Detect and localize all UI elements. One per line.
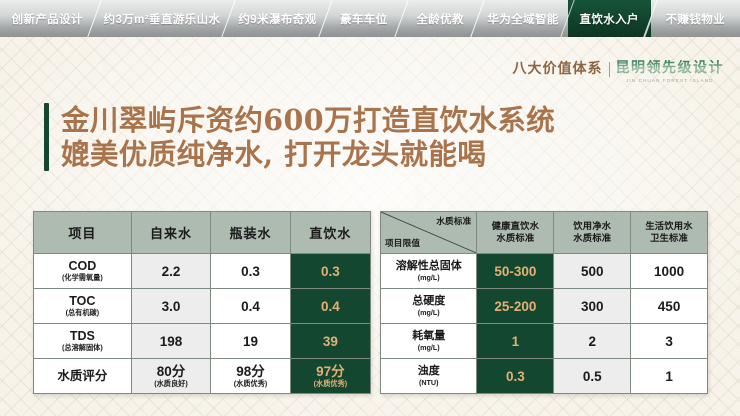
brand-value-system: 八大价值体系 昆明领先级设计 JIN CHUAN FOREST ISLAND — [513, 60, 725, 83]
cell-value: 300 — [581, 299, 604, 314]
nav-item-label: 约3万m²垂直游乐山水 — [104, 11, 221, 27]
cell-value: 1 — [665, 369, 673, 384]
row-label-unit: (mg/L) — [381, 274, 476, 282]
cell-subtext: (水质优秀) — [211, 380, 290, 388]
column-header-line-1: 饮用净水 — [554, 221, 630, 233]
table-row: TOC(总有机碳)3.00.40.4 — [34, 289, 371, 324]
row-label-sub: (化学需氧量) — [34, 274, 131, 282]
column-header-line-2: 水质标准 — [477, 233, 553, 245]
cell-value: 0.5 — [583, 369, 602, 384]
row-label: TDS(总溶解固体) — [34, 324, 132, 359]
cell-value: 198 — [160, 334, 183, 349]
cell-bottled-water: 0.4 — [211, 289, 291, 324]
nav-item-label: 豪车车位 — [340, 11, 388, 27]
cell-value: 500 — [581, 264, 604, 279]
table-row: 水质评分80分(水质良好)98分(水质优秀)97分(水质优秀) — [34, 359, 371, 394]
row-label: 溶解性总固体(mg/L) — [381, 254, 477, 289]
nav-item-label: 不赚钱物业 — [666, 11, 726, 27]
column-header-line-2: 水质标准 — [554, 233, 630, 245]
cell-value: 80分 — [157, 364, 186, 379]
column-header-line-2: 卫生标准 — [631, 233, 707, 245]
table-row: 溶解性总固体(mg/L)50-3005001000 — [381, 254, 708, 289]
column-header-4: 直饮水 — [290, 212, 370, 254]
nav-item-3[interactable]: 约9米瀑布奇观 — [229, 0, 325, 37]
brand-right-english: JIN CHUAN FOREST ISLAND — [626, 78, 714, 83]
row-label: 水质评分 — [34, 359, 132, 394]
column-header-3: 瓶装水 — [211, 212, 291, 254]
cell-domestic-water-standard: 1000 — [631, 254, 708, 289]
row-label-sub: (总有机碳) — [34, 309, 131, 317]
cell-value: 0.3 — [506, 369, 525, 384]
cell-purified-water-standard: 0.5 — [554, 359, 631, 394]
cell-value: 0.3 — [321, 264, 340, 279]
water-standard-table: 水质标准项目限值健康直饮水水质标准饮用净水水质标准生活饮用水卫生标准 溶解性总固… — [380, 211, 708, 394]
top-navigation-bar: 创新产品设计约3万m²垂直游乐山水约9米瀑布奇观豪车车位全龄优教华为全域智能直饮… — [0, 0, 740, 37]
cell-domestic-water-standard: 3 — [631, 324, 708, 359]
brand-right-group: 昆明领先级设计 JIN CHUAN FOREST ISLAND — [616, 60, 725, 83]
nav-item-label: 华为全域智能 — [487, 11, 558, 27]
cell-value: 3.0 — [162, 299, 181, 314]
row-label-main: COD — [68, 259, 96, 273]
cell-value: 19 — [243, 334, 258, 349]
headline-accent-bar — [44, 103, 49, 171]
cell-value: 3 — [665, 334, 673, 349]
cell-subtext: (水质优秀) — [291, 380, 370, 388]
table-row: 总硬度(mg/L)25-200300450 — [381, 289, 708, 324]
cell-healthy-direct-standard: 1 — [477, 324, 554, 359]
row-label-unit: (mg/L) — [381, 344, 476, 352]
headline-block: 金川翠屿斥资约600万打造直饮水系统 媲美优质纯净水, 打开龙头就能喝 — [44, 103, 555, 171]
brand-separator — [609, 62, 610, 77]
row-label-main: TOC — [69, 294, 95, 308]
cell-value: 2 — [588, 334, 596, 349]
corner-split-header: 水质标准项目限值 — [381, 212, 477, 254]
column-header-1: 健康直饮水水质标准 — [477, 212, 554, 254]
row-label-unit: (mg/L) — [381, 309, 476, 317]
cell-tap-water: 2.2 — [131, 254, 211, 289]
row-label-main: 浊度 — [418, 365, 440, 377]
cell-direct-drinking-water: 97分(水质优秀) — [290, 359, 370, 394]
corner-header-top: 水质标准 — [436, 216, 471, 228]
cell-direct-drinking-water: 0.3 — [290, 254, 370, 289]
row-label-unit: (NTU) — [381, 379, 476, 387]
cell-tap-water: 3.0 — [131, 289, 211, 324]
cell-value: 98分 — [236, 364, 265, 379]
nav-item-8[interactable]: 不赚钱物业 — [651, 0, 740, 37]
nav-item-label: 直饮水入户 — [579, 11, 639, 27]
nav-item-label: 约9米瀑布奇观 — [238, 11, 316, 27]
brand-left-label: 八大价值体系 — [513, 60, 603, 78]
corner-header-bottom: 项目限值 — [385, 238, 420, 250]
row-label-main: 耗氧量 — [412, 330, 445, 342]
nav-item-label: 全龄优教 — [416, 11, 464, 27]
cell-value: 0.4 — [321, 299, 340, 314]
cell-value: 25-200 — [494, 299, 536, 314]
table-row: TDS(总溶解固体)1981939 — [34, 324, 371, 359]
slide-background: 创新产品设计约3万m²垂直游乐山水约9米瀑布奇观豪车车位全龄优教华为全域智能直饮… — [0, 0, 740, 416]
cell-value: 39 — [323, 334, 338, 349]
column-header-line-1: 健康直饮水 — [477, 221, 553, 233]
cell-value: 2.2 — [162, 264, 181, 279]
water-comparison-table: 项目自来水瓶装水直饮水 COD(化学需氧量)2.20.30.3TOC(总有机碳)… — [33, 211, 371, 394]
cell-bottled-water: 0.3 — [211, 254, 291, 289]
column-header-line-1: 生活饮用水 — [631, 221, 707, 233]
headline-line-1: 金川翠屿斥资约600万打造直饮水系统 — [61, 103, 555, 137]
nav-item-7[interactable]: 直饮水入户 — [568, 0, 651, 37]
water-standard-table-grid: 水质标准项目限值健康直饮水水质标准饮用净水水质标准生活饮用水卫生标准 溶解性总固… — [380, 211, 708, 394]
column-header-1: 项目 — [34, 212, 132, 254]
water-comparison-table-grid: 项目自来水瓶装水直饮水 COD(化学需氧量)2.20.30.3TOC(总有机碳)… — [33, 211, 371, 394]
table-header-row: 项目自来水瓶装水直饮水 — [34, 212, 371, 254]
row-label-sub: (总溶解固体) — [34, 344, 131, 352]
headline-text: 金川翠屿斥资约600万打造直饮水系统 媲美优质纯净水, 打开龙头就能喝 — [61, 103, 555, 171]
column-header-2: 自来水 — [131, 212, 211, 254]
row-label-main: 总硬度 — [412, 295, 445, 307]
cell-value: 1000 — [654, 264, 684, 279]
row-label: COD(化学需氧量) — [34, 254, 132, 289]
cell-tap-water: 80分(水质良好) — [131, 359, 211, 394]
row-label: 总硬度(mg/L) — [381, 289, 477, 324]
row-label-main: 溶解性总固体 — [396, 260, 462, 272]
cell-healthy-direct-standard: 0.3 — [477, 359, 554, 394]
cell-value: 0.3 — [241, 264, 260, 279]
nav-item-4[interactable]: 豪车车位 — [326, 0, 402, 37]
nav-item-1[interactable]: 创新产品设计 — [0, 0, 95, 37]
cell-purified-water-standard: 2 — [554, 324, 631, 359]
nav-item-2[interactable]: 约3万m²垂直游乐山水 — [95, 0, 230, 37]
cell-purified-water-standard: 300 — [554, 289, 631, 324]
cell-tap-water: 198 — [131, 324, 211, 359]
cell-healthy-direct-standard: 50-300 — [477, 254, 554, 289]
column-header-3: 生活饮用水卫生标准 — [631, 212, 708, 254]
cell-value: 1 — [512, 334, 520, 349]
table-row: 浊度(NTU)0.30.51 — [381, 359, 708, 394]
table-row: 耗氧量(mg/L)123 — [381, 324, 708, 359]
nav-item-5[interactable]: 全龄优教 — [402, 0, 478, 37]
table-body: COD(化学需氧量)2.20.30.3TOC(总有机碳)3.00.40.4TDS… — [34, 254, 371, 394]
cell-bottled-water: 19 — [211, 324, 291, 359]
cell-direct-drinking-water: 0.4 — [290, 289, 370, 324]
cell-direct-drinking-water: 39 — [290, 324, 370, 359]
cell-purified-water-standard: 500 — [554, 254, 631, 289]
row-label: 浊度(NTU) — [381, 359, 477, 394]
headline-line-2: 媲美优质纯净水, 打开龙头就能喝 — [61, 137, 555, 171]
table-body: 溶解性总固体(mg/L)50-3005001000总硬度(mg/L)25-200… — [381, 254, 708, 394]
column-header-2: 饮用净水水质标准 — [554, 212, 631, 254]
cell-value: 50-300 — [494, 264, 536, 279]
row-label: 耗氧量(mg/L) — [381, 324, 477, 359]
row-label-main: TDS — [70, 329, 95, 343]
cell-domestic-water-standard: 450 — [631, 289, 708, 324]
nav-item-6[interactable]: 华为全域智能 — [478, 0, 567, 37]
nav-item-label: 创新产品设计 — [12, 11, 83, 27]
cell-healthy-direct-standard: 25-200 — [477, 289, 554, 324]
cell-subtext: (水质良好) — [132, 380, 211, 388]
brand-right-label: 昆明领先级设计 — [616, 60, 725, 77]
cell-value: 97分 — [316, 364, 345, 379]
row-label-main: 水质评分 — [57, 369, 107, 383]
cell-value: 450 — [658, 299, 681, 314]
cell-bottled-water: 98分(水质优秀) — [211, 359, 291, 394]
table-row: COD(化学需氧量)2.20.30.3 — [34, 254, 371, 289]
table-header-row: 水质标准项目限值健康直饮水水质标准饮用净水水质标准生活饮用水卫生标准 — [381, 212, 708, 254]
row-label: TOC(总有机碳) — [34, 289, 132, 324]
cell-value: 0.4 — [241, 299, 260, 314]
cell-domestic-water-standard: 1 — [631, 359, 708, 394]
